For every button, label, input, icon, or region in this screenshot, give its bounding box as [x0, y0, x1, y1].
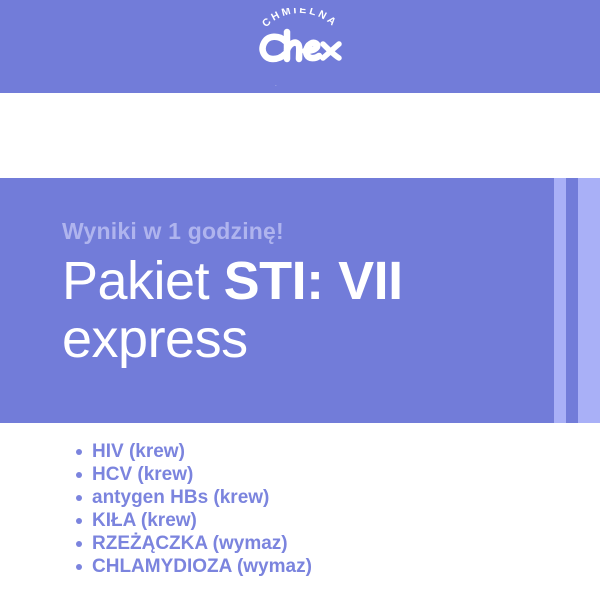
bullet-dot-icon [76, 472, 82, 478]
list-item-label: HIV (krew) [92, 441, 185, 462]
list-item-label: HCV (krew) [92, 464, 193, 485]
title-part-regular-2: express [62, 309, 248, 369]
list-item-label: KIŁA (krew) [92, 510, 197, 531]
list-item: antygen HBs (krew) [72, 486, 312, 509]
list-item: CHLAMYDIOZA (wymaz) [72, 555, 312, 578]
bullet-dot-icon [76, 564, 82, 570]
list-item: RZEŻĄCZKA (wymaz) [72, 532, 312, 555]
list-item: HCV (krew) [72, 463, 312, 486]
accent-stripe-light-outer [554, 178, 566, 423]
poster: CHMIELNA EXPRESS [0, 0, 600, 600]
header-band: CHMIELNA EXPRESS [0, 0, 600, 93]
test-list: HIV (krew) HCV (krew) antygen HBs (krew)… [72, 440, 312, 578]
list-item: HIV (krew) [72, 440, 312, 463]
svg-text:CHMIELNA: CHMIELNA [260, 8, 340, 30]
title-part-regular: Pakiet [62, 251, 224, 311]
list-item: KIŁA (krew) [72, 509, 312, 532]
chex-logo: CHMIELNA EXPRESS [235, 8, 365, 86]
title-part-bold: STI: VII [224, 251, 403, 311]
svg-text:EXPRESS: EXPRESS [270, 84, 330, 86]
bullet-dot-icon [76, 518, 82, 524]
page-title: Pakiet STI: VIIexpress [62, 252, 532, 368]
accent-stripe-dark [566, 178, 578, 423]
bullet-dot-icon [76, 495, 82, 501]
bullet-dot-icon [76, 449, 82, 455]
list-item-label: RZEŻĄCZKA (wymaz) [92, 533, 288, 554]
list-item-label: antygen HBs (krew) [92, 487, 269, 508]
list-item-label: CHLAMYDIOZA (wymaz) [92, 556, 312, 577]
bullet-dot-icon [76, 541, 82, 547]
eyebrow-text: Wyniki w 1 godzinę! [62, 218, 532, 244]
accent-stripe-light-edge [578, 178, 600, 423]
headline-block: Wyniki w 1 godzinę! Pakiet STI: VIIexpre… [62, 218, 532, 368]
main-panel: Wyniki w 1 godzinę! Pakiet STI: VIIexpre… [0, 178, 600, 423]
